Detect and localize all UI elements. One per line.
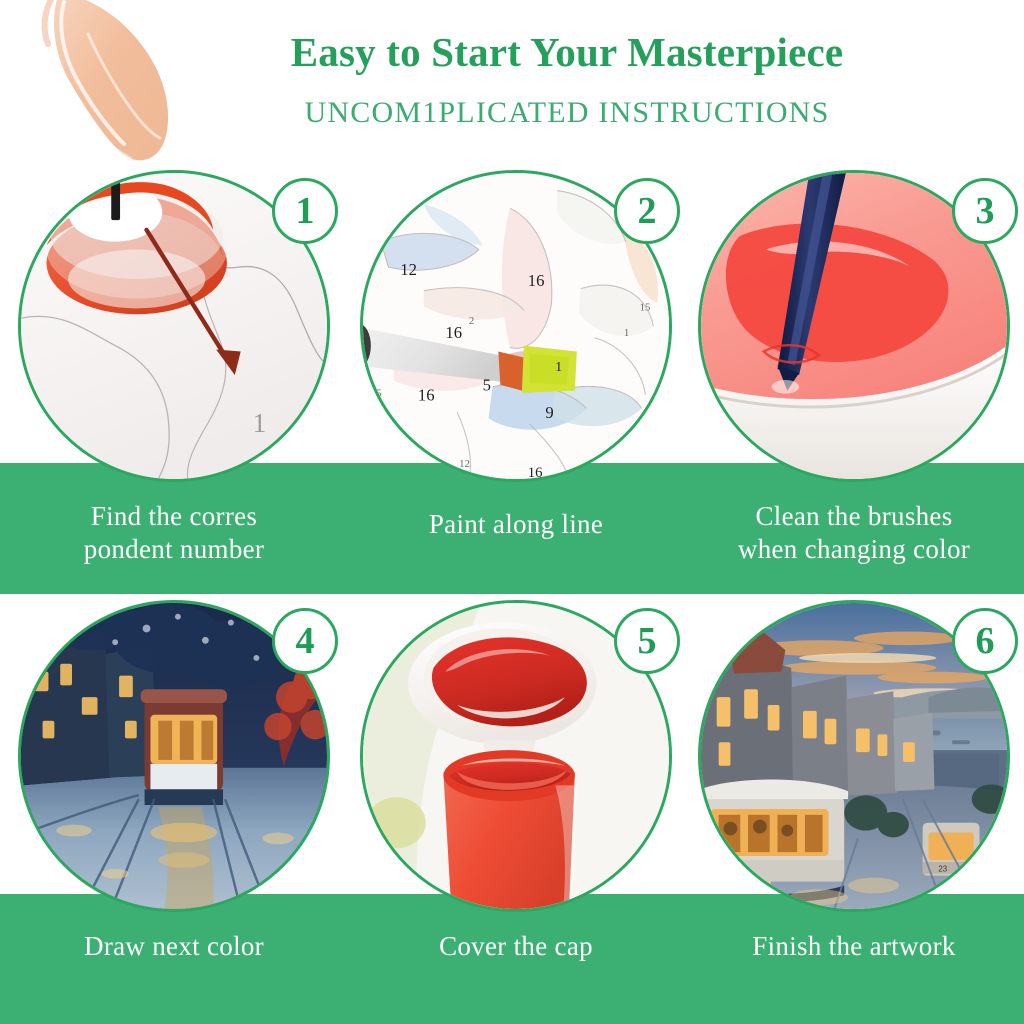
poster-header: Easy to Start Your Masterpiece UNCOM1PLI… (0, 0, 1024, 170)
step-card-4[interactable]: 4 Draw next color (4, 600, 344, 1024)
step-caption-1-line-1: Find the corres (4, 500, 344, 533)
page-subtitle: UNCOM1PLICATED INSTRUCTIONS (0, 96, 1024, 130)
step-caption-6: Finish the artwork (684, 930, 1024, 963)
step-caption-2-line-1: Paint along line (346, 508, 686, 541)
paint-smear-decoration (28, 0, 178, 170)
svg-text:16: 16 (418, 386, 435, 405)
step-1-media: 1 1 (18, 170, 330, 482)
step-badge-5: 5 (614, 608, 680, 674)
step-badge-3: 3 (952, 178, 1018, 244)
step-2-media: 12 16 16 16 5 9 1 15 1 15 2 12 1 (360, 170, 672, 482)
steps-row-2: 4 Draw next color (0, 600, 1024, 601)
instructions-poster: Easy to Start Your Masterpiece UNCOM1PLI… (0, 0, 1024, 1024)
step-badge-6: 6 (952, 608, 1018, 674)
svg-text:9: 9 (545, 403, 553, 422)
step-card-2[interactable]: 12 16 16 16 5 9 1 15 1 15 2 12 1 (346, 170, 686, 600)
step-caption-3-line-2: when changing color (684, 533, 1024, 566)
step-caption-4-line-1: Draw next color (4, 930, 344, 963)
svg-text:12: 12 (459, 458, 470, 470)
svg-text:2: 2 (469, 315, 474, 327)
step-caption-4: Draw next color (4, 930, 344, 963)
step-caption-2: Paint along line (346, 508, 686, 541)
svg-text:15: 15 (371, 388, 382, 400)
step-badge-4: 4 (272, 608, 338, 674)
steps-row-1: 1 1 Find the corres pondent number (0, 170, 1024, 171)
svg-text:16: 16 (528, 465, 543, 479)
step-caption-3-line-1: Clean the brushes (684, 500, 1024, 533)
step-caption-5-line-1: Cover the cap (346, 930, 686, 963)
step-4-media: 4 (18, 600, 330, 912)
svg-text:1: 1 (624, 327, 629, 339)
svg-text:16: 16 (528, 271, 545, 290)
svg-text:23: 23 (709, 866, 723, 879)
step-card-3[interactable]: 3 Clean the brushes when changing color (684, 170, 1024, 600)
svg-text:16: 16 (445, 323, 462, 342)
svg-text:1: 1 (555, 359, 562, 374)
step-caption-1: Find the corres pondent number (4, 500, 344, 566)
step-6-media: 23 23 (698, 600, 1010, 912)
svg-text:5: 5 (483, 376, 491, 395)
svg-text:1: 1 (252, 408, 266, 438)
step-card-1[interactable]: 1 1 Find the corres pondent number (4, 170, 344, 600)
step-badge-1: 1 (272, 178, 338, 244)
page-title: Easy to Start Your Masterpiece (0, 28, 1024, 76)
step-5-media: 5 (360, 600, 672, 912)
step-caption-3: Clean the brushes when changing color (684, 500, 1024, 566)
svg-text:15: 15 (640, 301, 651, 313)
step-card-5[interactable]: 5 Cover the cap (346, 600, 686, 1024)
step-caption-6-line-1: Finish the artwork (684, 930, 1024, 963)
svg-text:23: 23 (938, 865, 947, 874)
step-badge-2: 2 (614, 178, 680, 244)
svg-text:12: 12 (400, 260, 417, 279)
step-3-media: 3 (698, 170, 1010, 482)
step-caption-1-line-2: pondent number (4, 533, 344, 566)
step-caption-5: Cover the cap (346, 930, 686, 963)
step-card-6[interactable]: 23 23 (684, 600, 1024, 1024)
